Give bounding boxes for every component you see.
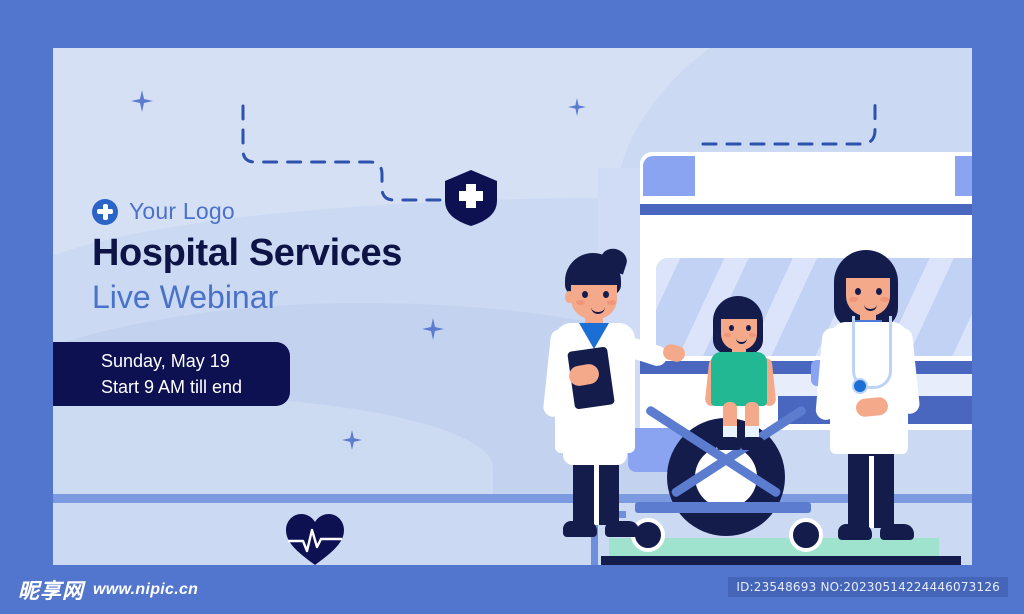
four-point-sparkle-icon-3 bbox=[422, 318, 444, 340]
four-point-sparkle-icon-2 bbox=[568, 98, 586, 116]
female-doctor-with-stethoscope bbox=[818, 250, 928, 555]
page-subtitle: Live Webinar bbox=[92, 279, 512, 316]
watermark-url: www.nipic.cn bbox=[93, 581, 198, 599]
event-date-badge: Sunday, May 19 Start 9 AM till end bbox=[53, 342, 290, 406]
child-shirt bbox=[711, 352, 767, 406]
male-doctor-cheek-right bbox=[607, 300, 616, 305]
watermark-site-name: 昵享网 bbox=[18, 575, 84, 605]
watermark-bar: 昵享网 www.nipic.cn ID:23548693 NO:20230514… bbox=[0, 565, 1024, 614]
watermark-id-label: ID:23548693 NO:20230514224446073126 bbox=[728, 577, 1008, 597]
child-fringe bbox=[718, 305, 760, 319]
watermark-logo[interactable]: 昵享网 www.nipic.cn bbox=[18, 575, 198, 605]
four-point-sparkle-icon-1 bbox=[131, 90, 153, 112]
female-doctor-leg-gap bbox=[869, 456, 874, 528]
male-doctor-cheek-left bbox=[576, 300, 585, 305]
ambulance-roof-light-right bbox=[955, 156, 972, 196]
female-doctor-cheek-left bbox=[849, 297, 858, 302]
brand-logo-row[interactable]: Your Logo bbox=[92, 198, 512, 225]
male-doctor-eye-left bbox=[582, 291, 588, 298]
child-shoe-right bbox=[741, 437, 765, 450]
child-cheek-left bbox=[724, 333, 731, 337]
child-patient-on-gurney bbox=[701, 296, 781, 456]
medical-cross-circle-icon bbox=[92, 199, 118, 225]
ambulance-roof-light-left bbox=[643, 156, 695, 196]
female-doctor-shoe-right bbox=[880, 524, 914, 540]
male-doctor-fringe bbox=[567, 267, 619, 285]
child-cheek-right bbox=[749, 333, 756, 337]
male-doctor-shoe-right bbox=[605, 521, 639, 537]
event-date: Sunday, May 19 bbox=[101, 348, 290, 374]
gurney-base-bar bbox=[635, 502, 811, 513]
banner-stage: Your Logo Hospital Services Live Webinar… bbox=[0, 0, 1024, 614]
logo-text: Your Logo bbox=[129, 198, 235, 225]
event-time: Start 9 AM till end bbox=[101, 374, 290, 400]
male-doctor-eye-right bbox=[603, 291, 609, 298]
female-doctor-shoe-left bbox=[838, 524, 872, 540]
banner-copy: Your Logo Hospital Services Live Webinar bbox=[92, 198, 512, 316]
male-doctor-shoe-left bbox=[563, 521, 597, 537]
female-doctor-eye-right bbox=[876, 288, 882, 295]
female-doctor-cheek-right bbox=[880, 297, 889, 302]
heart-pulse-icon bbox=[286, 514, 344, 565]
four-point-sparkle-icon-4 bbox=[342, 430, 362, 450]
stethoscope-diaphragm-icon bbox=[852, 378, 868, 394]
male-doctor-with-clipboard bbox=[545, 253, 655, 553]
stretcher-frame bbox=[601, 556, 961, 565]
female-doctor-eye-left bbox=[855, 288, 861, 295]
child-eye-left bbox=[729, 325, 734, 331]
child-shoe-left bbox=[717, 437, 741, 450]
child-eye-right bbox=[746, 325, 751, 331]
page-title: Hospital Services bbox=[92, 233, 512, 275]
ambulance-stripe-upper bbox=[640, 204, 972, 215]
female-doctor-fringe bbox=[842, 262, 894, 278]
